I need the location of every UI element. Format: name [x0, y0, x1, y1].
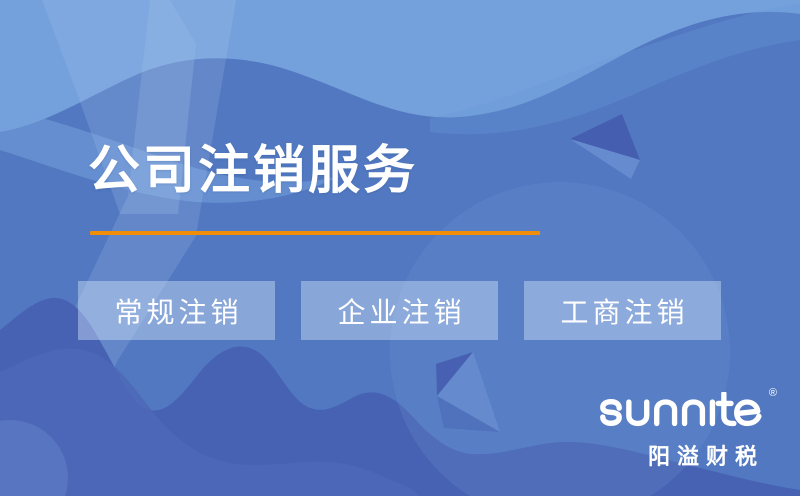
- tag-label: 常规注销: [110, 291, 242, 331]
- tag-business-deregistration[interactable]: 工商注销: [524, 281, 721, 340]
- tag-enterprise-deregistration[interactable]: 企业注销: [301, 281, 498, 340]
- title-underline-rule: [90, 231, 540, 235]
- registered-trademark-icon: ®: [769, 388, 777, 399]
- page-title: 公司注销服务: [88, 140, 418, 202]
- promotional-banner: 公司注销服务 常规注销 企业注销 工商注销: [0, 0, 800, 496]
- service-tag-row: 常规注销 企业注销 工商注销: [78, 281, 721, 340]
- logo-wordmark-wrapper: ®: [598, 392, 764, 432]
- logo-subtitle: 阳溢财税: [598, 439, 764, 471]
- tag-label: 工商注销: [556, 291, 688, 331]
- tag-label: 企业注销: [333, 291, 465, 331]
- sunnite-wordmark-icon: [598, 392, 764, 432]
- brand-logo[interactable]: ® 阳溢财税: [598, 392, 764, 471]
- tag-regular-deregistration[interactable]: 常规注销: [78, 281, 275, 340]
